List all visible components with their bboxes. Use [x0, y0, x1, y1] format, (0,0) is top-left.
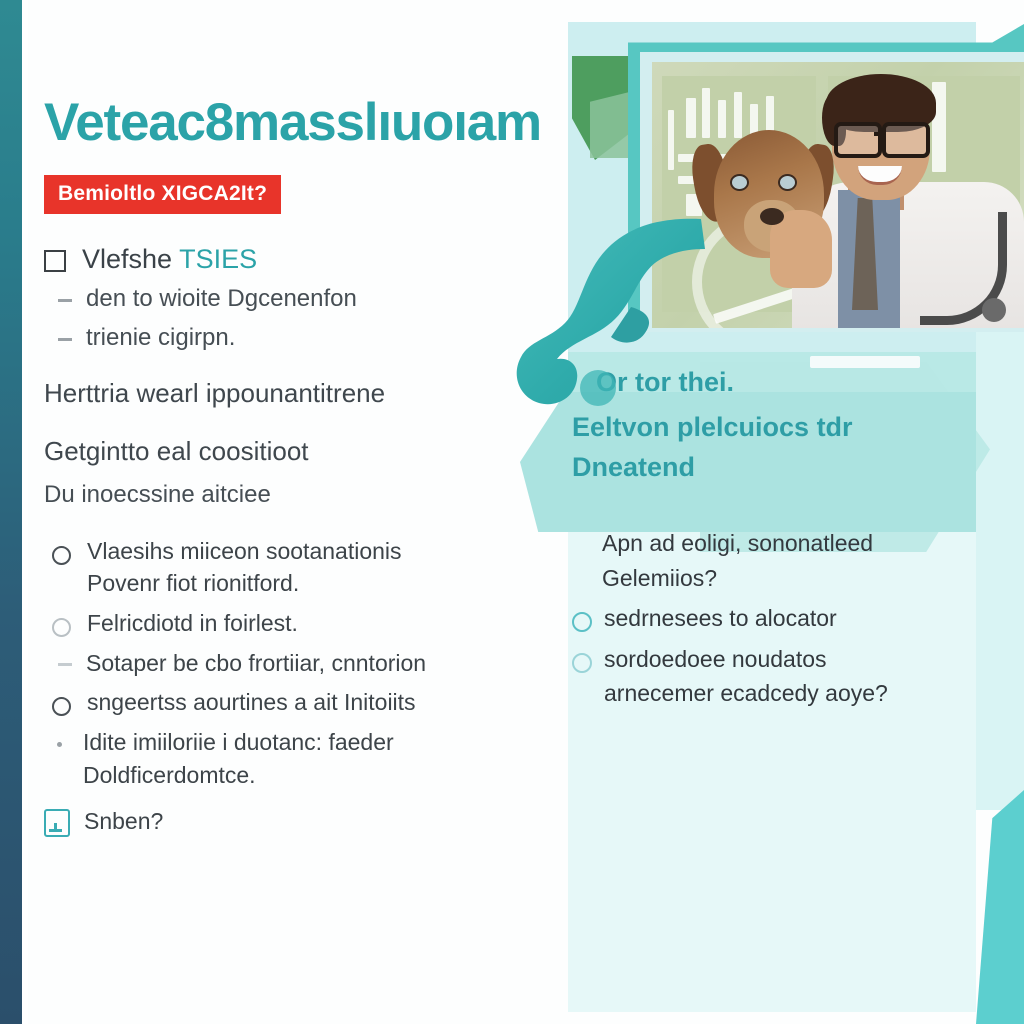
list-item-line1: Idite imiiloriie i duotanc: faeder — [83, 729, 394, 755]
circle-decoration — [580, 370, 616, 406]
right-heading-line2: Eeltvon plelcuiocs tdr — [572, 411, 972, 444]
list-item: Idite imiiloriie i duotanc: faeder Doldf… — [44, 726, 544, 791]
dash-bullet-icon — [58, 663, 72, 666]
checklist-heading: Vlefshe TSIES — [82, 242, 257, 276]
list-item: sedrnesees to alocator — [572, 601, 972, 636]
list-item-label: den to wioite Dgcenenfon — [86, 283, 357, 315]
veterinarian-with-puppy-photo — [652, 62, 1024, 328]
list-item: Vlaesihs miiceon sootanationis Povenr fi… — [44, 535, 544, 600]
subheading: Du inoecssine aitciee — [44, 479, 544, 511]
list-item: sngeertss aourtines a ait Initoiits — [44, 686, 544, 719]
right-edge-soft-accent — [972, 330, 1024, 810]
list-item-line2: Doldficerdomtce. — [83, 762, 256, 788]
right-corner-teal-accent — [976, 790, 1024, 1024]
status-badge: Bemioltlo XIGCA2It? — [44, 175, 281, 214]
list-item-label: Vlaesihs miiceon sootanationis Povenr fi… — [87, 535, 402, 600]
stethoscope-bell — [982, 298, 1006, 322]
list-item-label: Idite imiiloriie i duotanc: faeder Doldf… — [83, 726, 394, 791]
list-item: sordoedoee noudatos arnecemer ecadcedy a… — [572, 642, 972, 711]
checklist-heading-accent: TSIES — [179, 244, 257, 274]
checkbox-icon[interactable] — [44, 250, 66, 272]
document-icon[interactable] — [44, 809, 70, 837]
ring-bullet-icon — [52, 546, 71, 565]
ring-bullet-faint-icon — [572, 653, 592, 673]
list-item-line1: sordoedoee noudatos — [604, 646, 827, 672]
right-heading-line3: Dneatend — [572, 451, 972, 484]
footer-item[interactable]: Snben? — [44, 805, 544, 838]
list-item: den to wioite Dgcenenfon — [44, 283, 544, 315]
right-paragraph-line1: Apn ad eoligi, sononatleed — [572, 526, 972, 561]
footer-item-label: Snben? — [84, 805, 163, 838]
ring-bullet-faint-icon — [52, 618, 71, 637]
list-item: Sotaper be cbo frortiiar, cnntorion — [44, 647, 544, 680]
list-item-line2: arnecemer ecadcedy aoye? — [604, 680, 888, 706]
list-item-line1: Vlaesihs miiceon sootanationis — [87, 538, 402, 564]
section-heading-rest: eal coositioot — [157, 436, 309, 466]
list-item-label: sngeertss aourtines a ait Initoiits — [87, 686, 416, 719]
list-item-label: trienie cigirpn. — [86, 322, 235, 354]
dash-bullet-icon — [58, 299, 72, 302]
list-item-line2: Povenr fiot rionitford. — [87, 570, 299, 596]
puppy-eye-left — [730, 174, 749, 191]
list-item-label: sedrnesees to alocator — [604, 601, 837, 636]
puppy-nose — [760, 208, 784, 225]
list-item: trienie cigirpn. — [44, 322, 544, 354]
checklist-heading-dark: Vlefshe — [82, 244, 172, 274]
section-heading: Getgintto eal coositioot — [44, 435, 544, 469]
eyeglasses-icon — [834, 122, 930, 150]
left-edge-inner-gap — [22, 0, 28, 1024]
left-edge-strip — [0, 0, 22, 1024]
left-content-column: Veteac8masslıuoıam Bemioltlo XIGCA2It? V… — [44, 96, 544, 845]
page-title: Veteac8masslıuoıam — [44, 96, 544, 149]
infographic-poster: Veteac8masslıuoıam Bemioltlo XIGCA2It? V… — [0, 0, 1024, 1024]
dash-bullet-icon — [58, 338, 72, 341]
ring-bullet-icon — [572, 612, 592, 632]
statement-text: Herttria wearl ippounantitrene — [44, 377, 544, 411]
right-content-column: Or tor thei. Eeltvon plelcuiocs tdr Dnea… — [572, 366, 972, 711]
section-heading-accent: Getgintto — [44, 436, 150, 466]
puppy-eye-right — [778, 174, 797, 191]
list-item-label: Felricdiotd in foirlest. — [87, 607, 298, 640]
list-item-label: sordoedoee noudatos arnecemer ecadcedy a… — [604, 642, 888, 711]
dot-bullet-icon — [57, 742, 62, 747]
list-item: Felricdiotd in foirlest. — [44, 607, 544, 640]
checklist-heading-row: Vlefshe TSIES — [44, 242, 544, 276]
right-heading-line1: Or tor thei. — [572, 366, 972, 399]
list-item-label: Sotaper be cbo frortiiar, cnntorion — [86, 647, 426, 680]
ring-bullet-icon — [52, 697, 71, 716]
right-paragraph-line2: Gelemiios? — [572, 561, 972, 596]
